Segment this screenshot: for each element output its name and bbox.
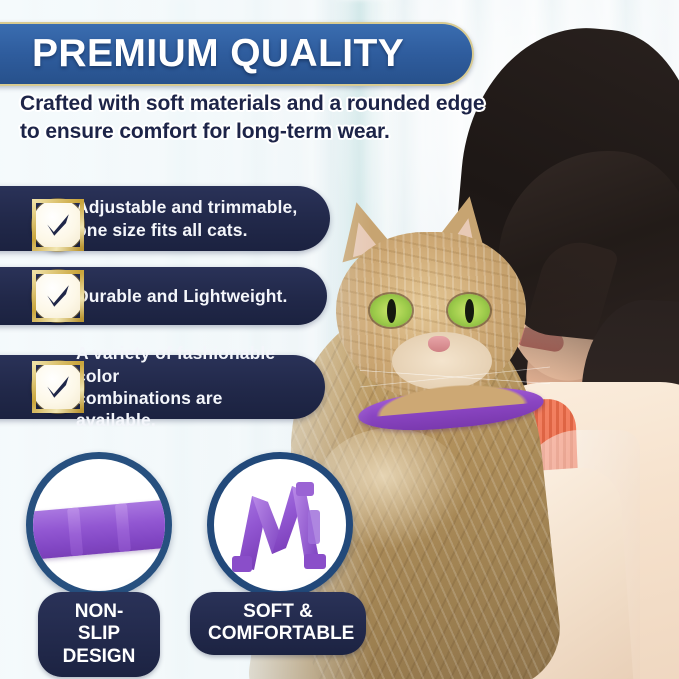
badge-circle-2 xyxy=(207,452,353,598)
page-title: PREMIUM QUALITY xyxy=(32,32,404,76)
collar-m-shape-icon xyxy=(224,472,336,578)
badge-label-non-slip: NON-SLIP DESIGN xyxy=(38,592,160,677)
checkmark-icon-2 xyxy=(32,270,84,322)
header-subtitle: Crafted with soft materials and a rounde… xyxy=(20,90,500,145)
badge-circle-1 xyxy=(26,452,172,598)
badge-non-slip xyxy=(26,452,172,598)
checkmark-icon-1 xyxy=(32,199,84,251)
feature-text-3: A variety of fashionable color combinati… xyxy=(76,342,303,432)
badge-label-soft-comfortable: SOFT & COMFORTABLE xyxy=(190,592,366,655)
collar-strap-icon xyxy=(26,498,172,561)
product-infographic-poster: PREMIUM QUALITY Crafted with soft materi… xyxy=(0,0,679,679)
strap-ridge-3 xyxy=(163,499,172,548)
header-banner: PREMIUM QUALITY xyxy=(0,22,474,86)
strap-ridge-2 xyxy=(115,503,131,552)
strap-ridge-1 xyxy=(67,507,83,556)
graphics-overlay: PREMIUM QUALITY Crafted with soft materi… xyxy=(0,0,679,679)
badge-soft-comfortable xyxy=(207,452,353,598)
feature-text-2: Durable and Lightweight. xyxy=(76,285,287,307)
feature-text-1: Adjustable and trimmable, one size fits … xyxy=(76,196,297,241)
checkmark-icon-3 xyxy=(32,361,84,413)
